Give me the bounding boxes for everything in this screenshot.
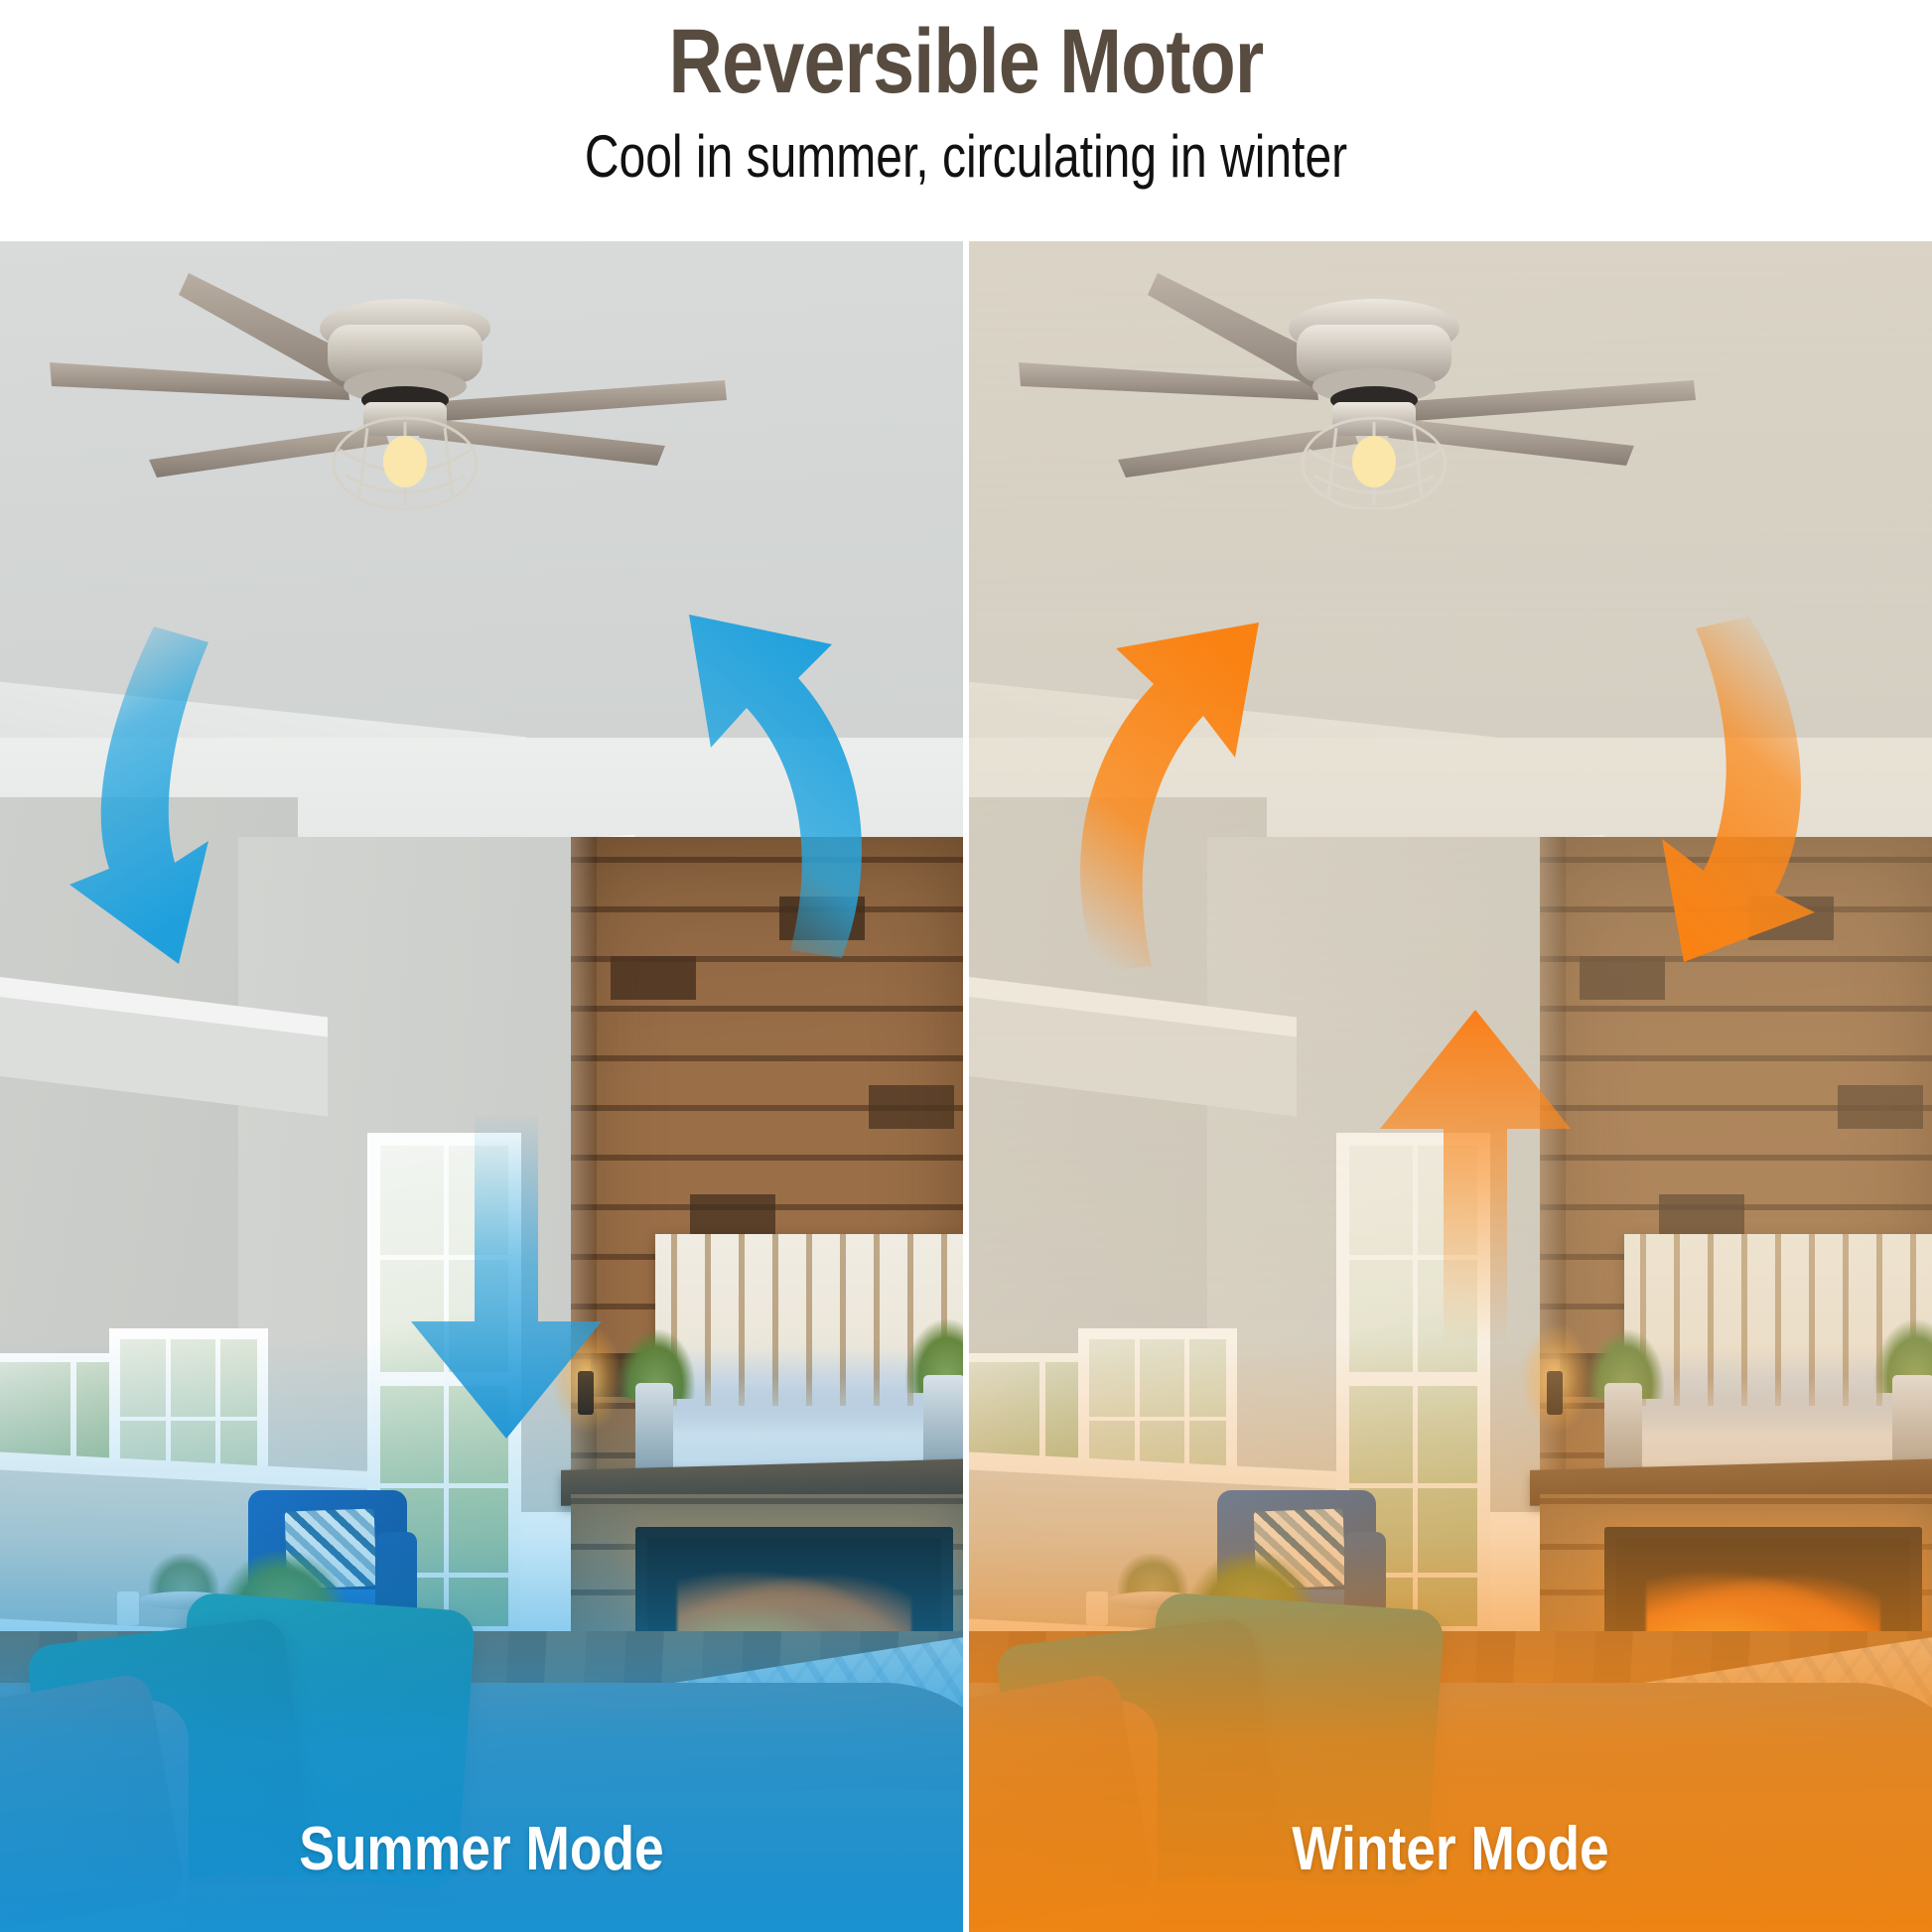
mode-label-summer: Summer Mode [68, 1814, 896, 1884]
brick [1838, 1085, 1923, 1129]
brick [1748, 897, 1834, 940]
brick [690, 1194, 775, 1238]
room-scene-summer [0, 241, 963, 1932]
panel-divider [963, 241, 969, 1932]
wall-outlet [1086, 1591, 1108, 1625]
brick [779, 897, 865, 940]
window-rail [1349, 1255, 1477, 1260]
window-mullion [1413, 1146, 1418, 1626]
comparison-panels: Summer Mode [0, 241, 1932, 1932]
room-scene-winter [969, 241, 1932, 1932]
mantel-vase-left [635, 1383, 673, 1474]
wall-sconce [1547, 1371, 1563, 1415]
brick [869, 1085, 954, 1129]
window-rail [380, 1255, 508, 1260]
window-rail [380, 1483, 508, 1488]
brick [611, 956, 696, 1000]
wall-outlet [117, 1591, 139, 1625]
wall-sconce [578, 1371, 594, 1415]
mode-label-winter: Winter Mode [1036, 1814, 1864, 1884]
mantel-vase-left [1604, 1383, 1642, 1474]
door-rail [1089, 1417, 1226, 1421]
door-rail [120, 1417, 257, 1421]
window-rail [1349, 1483, 1477, 1488]
page-title: Reversible Motor [174, 14, 1758, 110]
infographic-page: Reversible Motor Cool in summer, circula… [0, 0, 1932, 1932]
panel-winter-mode: Winter Mode [969, 241, 1932, 1932]
brick [1580, 956, 1665, 1000]
page-subtitle: Cool in summer, circulating in winter [194, 125, 1739, 188]
brick [1659, 1194, 1744, 1238]
panel-summer-mode: Summer Mode [0, 241, 963, 1932]
header: Reversible Motor Cool in summer, circula… [0, 0, 1932, 241]
window-mullion [444, 1146, 449, 1626]
